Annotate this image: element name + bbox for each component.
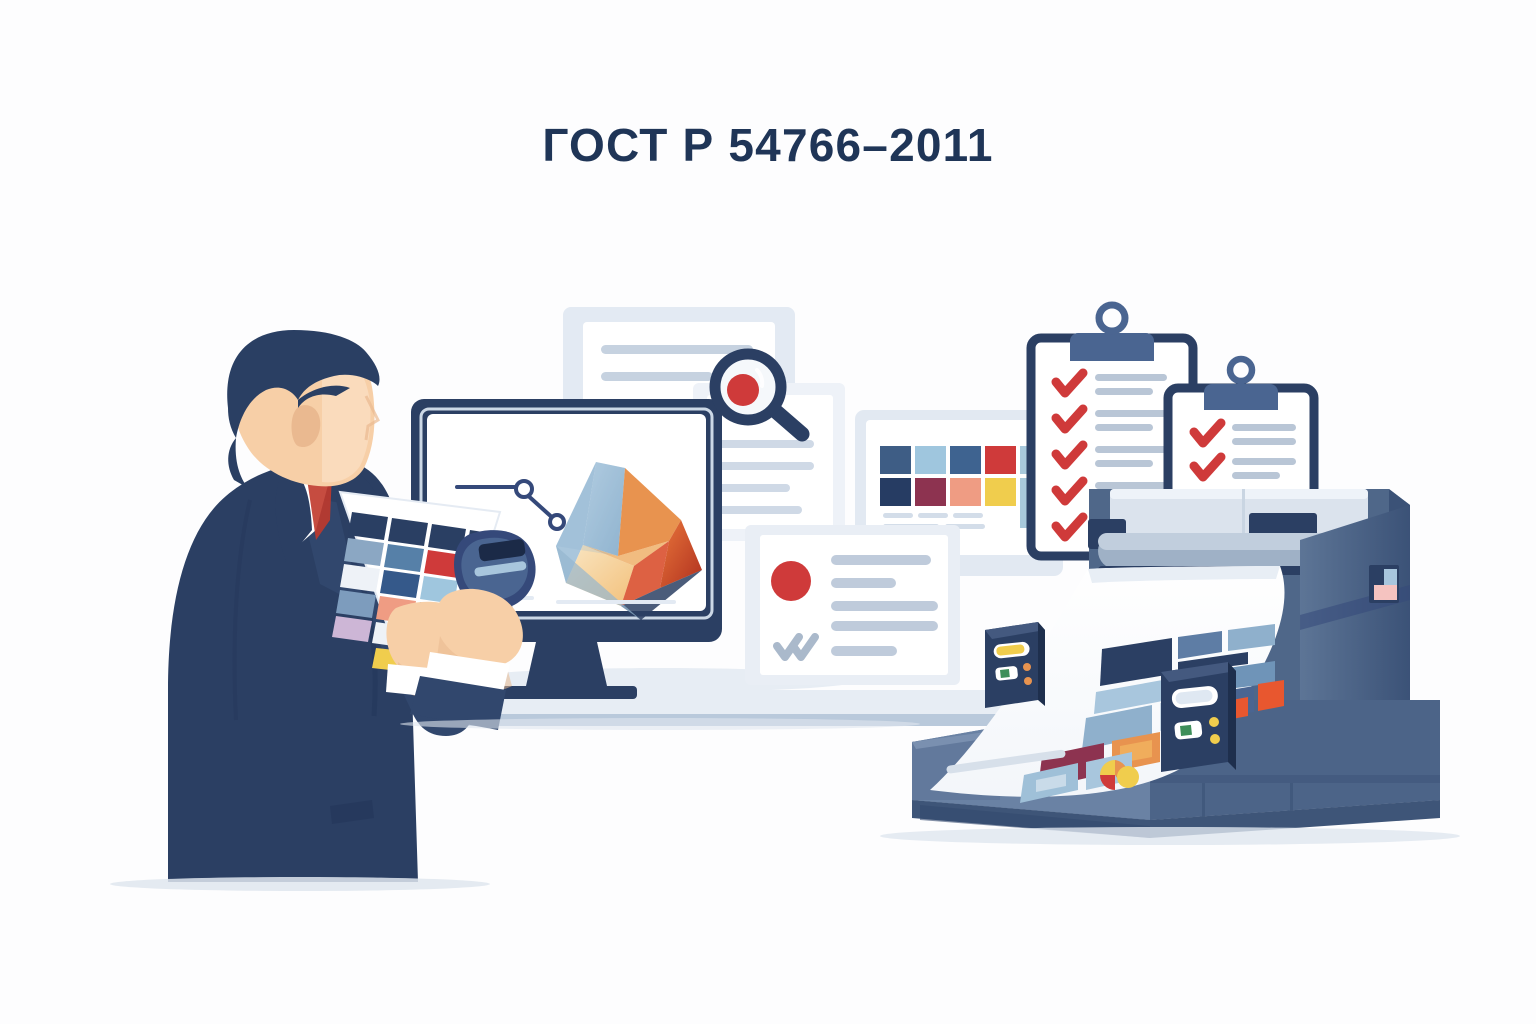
doc-text-line: [718, 462, 814, 470]
color-proof-document: [745, 525, 960, 685]
illustration-stage: ГОСТ Р 54766–2011: [0, 0, 1536, 1024]
doc-text-line: [718, 484, 790, 492]
clipboard-clip: [1204, 384, 1278, 410]
clipboard-clip: [1070, 333, 1154, 361]
doc-text-line: [601, 372, 713, 381]
doc-text-line: [831, 578, 896, 588]
swatch-row-1: [880, 446, 1048, 474]
doc-text-line: [831, 555, 931, 565]
press-control-panel[interactable]: [1369, 565, 1399, 603]
doc-text-line: [601, 345, 753, 354]
monitor-stand-neck: [526, 642, 607, 686]
clipboard-ring: [1099, 305, 1125, 331]
doc-text-line: [831, 621, 938, 631]
clipboard-ring: [1230, 359, 1252, 381]
doc-text-line: [718, 506, 802, 514]
scene-illustration: [0, 0, 1536, 1024]
doc-text-line: [718, 440, 814, 448]
doc-text-line: [831, 646, 897, 656]
doc-text-line: [831, 601, 938, 611]
spectrophotometer-left[interactable]: [985, 622, 1045, 708]
monitor-stand-base: [496, 686, 637, 699]
spectrophotometer-right[interactable]: [1161, 662, 1236, 772]
magnifier-sample-dot: [727, 374, 759, 406]
color-target-dot: [771, 561, 811, 601]
